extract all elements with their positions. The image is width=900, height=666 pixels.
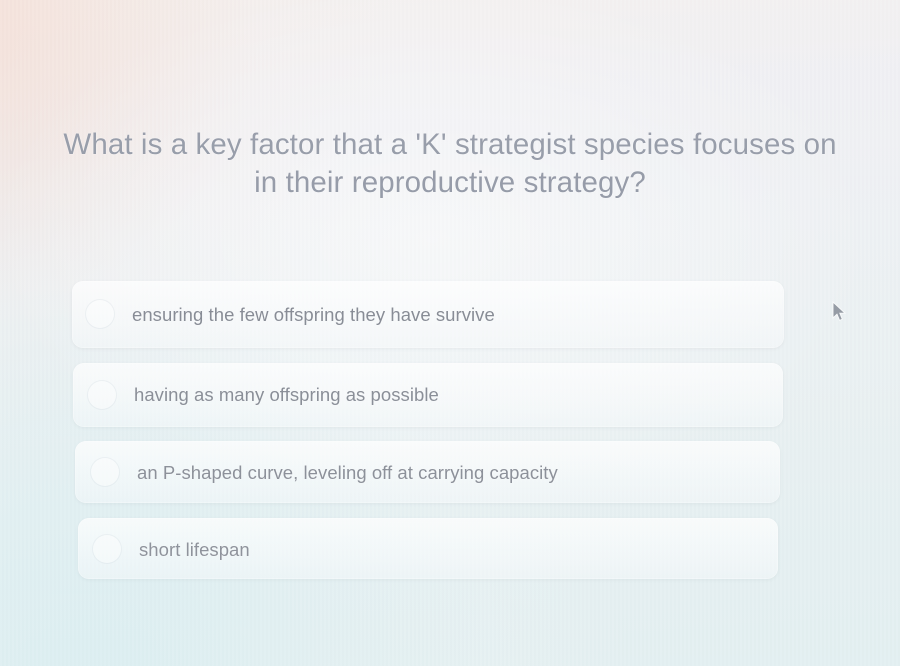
radio-button-2[interactable]: [91, 458, 119, 486]
radio-button-1[interactable]: [88, 381, 116, 409]
quiz-content: What is a key factor that a 'K' strategi…: [0, 0, 900, 666]
arrow-cursor-icon: [832, 301, 848, 323]
answer-option-label-1: having as many offspring as possible: [134, 383, 439, 407]
question-text: What is a key factor that a 'K' strategi…: [60, 126, 840, 202]
radio-button-3[interactable]: [93, 535, 121, 563]
quiz-screen: What is a key factor that a 'K' strategi…: [0, 0, 900, 666]
answer-option-label-3: short lifespan: [139, 538, 250, 562]
answer-option-label-2: an P-shaped curve, leveling off at carry…: [137, 461, 558, 485]
radio-button-0[interactable]: [86, 300, 114, 328]
answer-option-label-0: ensuring the few offspring they have sur…: [132, 303, 495, 327]
